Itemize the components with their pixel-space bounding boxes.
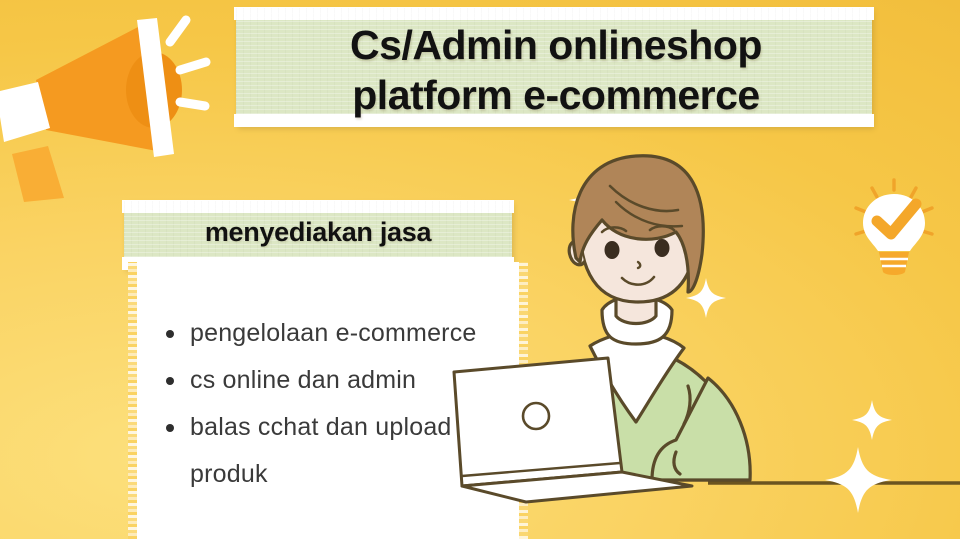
megaphone-svg: [0, 2, 224, 202]
bulb-base: [879, 252, 909, 275]
eye-right: [655, 239, 670, 257]
card-torn-edge-left: [127, 262, 137, 539]
lightbulb-check-icon: [846, 176, 944, 280]
laptop-lid: [454, 358, 622, 486]
megaphone-handle-stem: [12, 146, 64, 202]
lightbulb-svg: [846, 176, 944, 280]
page-title: Cs/Admin onlineshop platform e-commerce: [236, 20, 876, 120]
megaphone-icon: [0, 2, 224, 202]
poster-canvas: Cs/Admin onlineshop platform e-commerce …: [0, 0, 960, 539]
eye-left: [605, 241, 620, 259]
